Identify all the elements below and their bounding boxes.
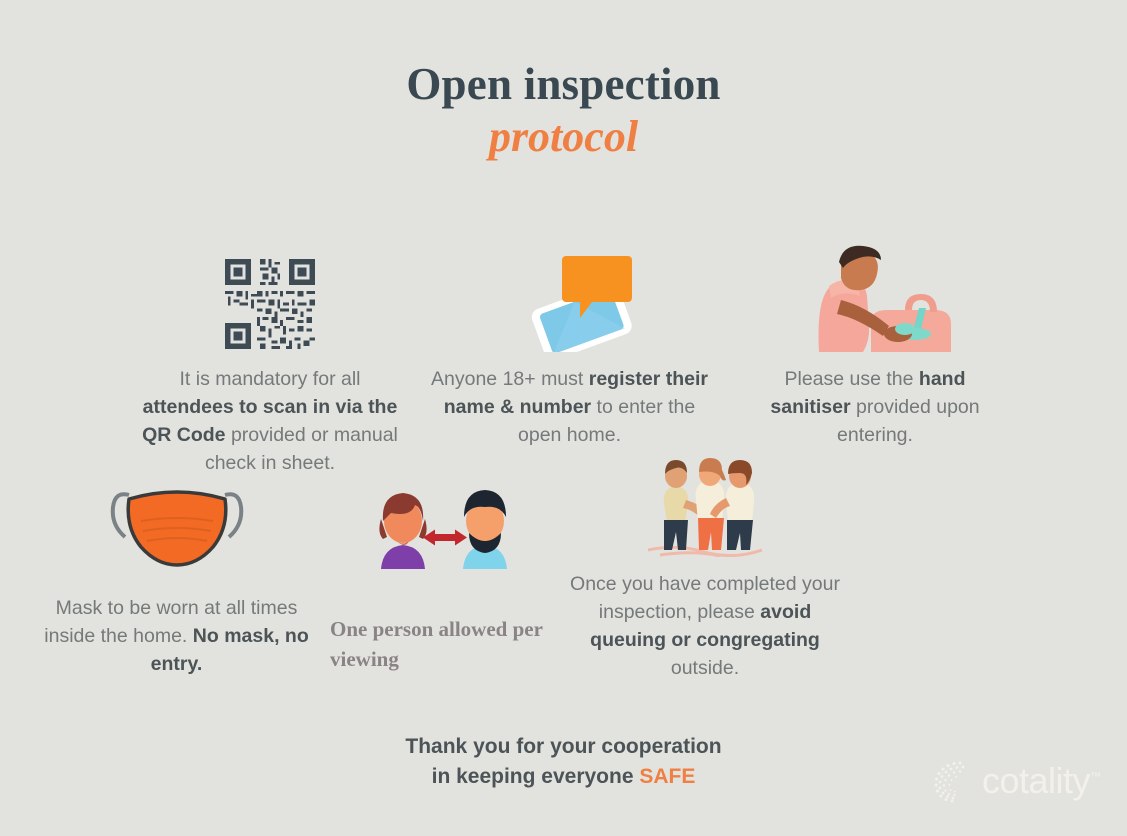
protocol-item-hand-sanitiser: Please use the hand sanitiser provided u… <box>755 240 995 450</box>
protocol-caption: One person allowed per viewing <box>330 615 560 675</box>
icon-container <box>755 240 995 352</box>
hand-washing-icon <box>785 242 965 352</box>
social-distance-icon <box>363 481 528 573</box>
cotality-logo: cotality™ <box>930 758 1101 804</box>
icon-container <box>330 468 560 573</box>
icon-container <box>44 468 309 573</box>
footer-safe-highlight: SAFE <box>639 765 695 788</box>
icon-container <box>570 452 840 557</box>
qr-code-icon <box>222 256 318 352</box>
logo-wordmark: cotality™ <box>982 763 1101 799</box>
protocol-item-no-queuing: Once you have completed your inspection,… <box>570 452 840 683</box>
title-line-secondary: protocol <box>0 115 1127 159</box>
poster-canvas: Open inspection protocol <box>0 0 1127 836</box>
protocol-item-wear-mask: Mask to be worn at all times inside the … <box>44 468 309 679</box>
protocol-item-one-person: One person allowed per viewing <box>330 468 560 675</box>
phone-message-icon <box>505 244 635 352</box>
protocol-caption: Anyone 18+ must register their name & nu… <box>427 366 712 450</box>
protocol-caption: Please use the hand sanitiser provided u… <box>755 366 995 450</box>
group-of-people-icon <box>640 452 770 557</box>
face-mask-icon <box>107 473 247 573</box>
icon-container <box>140 240 400 352</box>
protocol-caption: Mask to be worn at all times inside the … <box>44 595 309 679</box>
protocol-caption: Once you have completed your inspection,… <box>570 571 840 683</box>
title-line-primary: Open inspection <box>0 62 1127 107</box>
page-title: Open inspection protocol <box>0 62 1127 159</box>
protocol-item-qr-check-in: It is mandatory for all attendees to sca… <box>140 240 400 478</box>
protocol-caption: It is mandatory for all attendees to sca… <box>140 366 400 478</box>
trademark-symbol: ™ <box>1090 771 1101 783</box>
logo-name: cotality <box>982 760 1090 801</box>
footer-line-2-prefix: in keeping everyone <box>432 765 640 788</box>
cotality-crescent-mark <box>930 758 976 804</box>
icon-container <box>427 240 712 352</box>
protocol-item-register-details: Anyone 18+ must register their name & nu… <box>427 240 712 450</box>
